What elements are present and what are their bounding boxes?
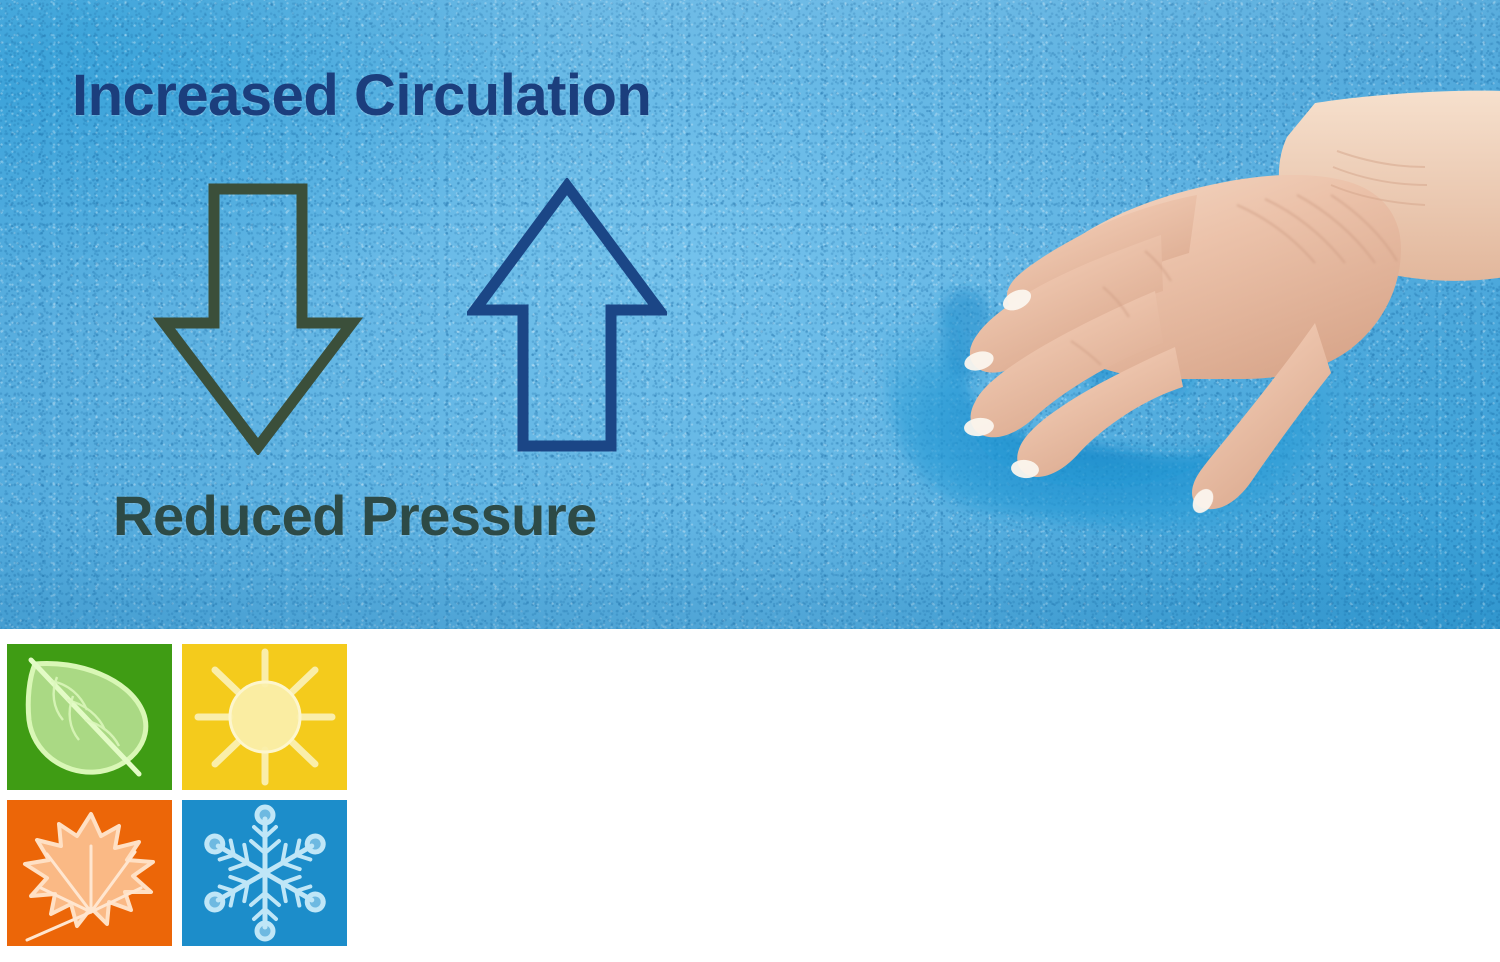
down-arrow-icon: [152, 183, 364, 455]
increased-circulation-label: Increased Circulation: [72, 62, 651, 129]
maple-leaf-icon: [7, 800, 172, 946]
hand-pressing-foam-photo: [845, 55, 1500, 535]
sun-icon: [182, 644, 347, 790]
season-tile-autumn: [7, 800, 172, 946]
season-tile-spring: [7, 644, 172, 790]
memory-foam-photo-panel: Increased Circulation Reduced Pressure: [0, 0, 1500, 629]
product-infographic: Increased Circulation Reduced Pressure: [0, 0, 1500, 962]
leaf-icon: [7, 644, 172, 790]
season-tile-summer: [182, 644, 347, 790]
snowflake-icon: [182, 800, 347, 946]
feature-band: 100% GEL-Infused Memory Foam with Temper…: [0, 629, 1500, 962]
up-arrow-icon: [467, 178, 667, 455]
season-icon-grid: [7, 644, 347, 954]
season-tile-winter: [182, 800, 347, 946]
reduced-pressure-label: Reduced Pressure: [113, 483, 597, 548]
